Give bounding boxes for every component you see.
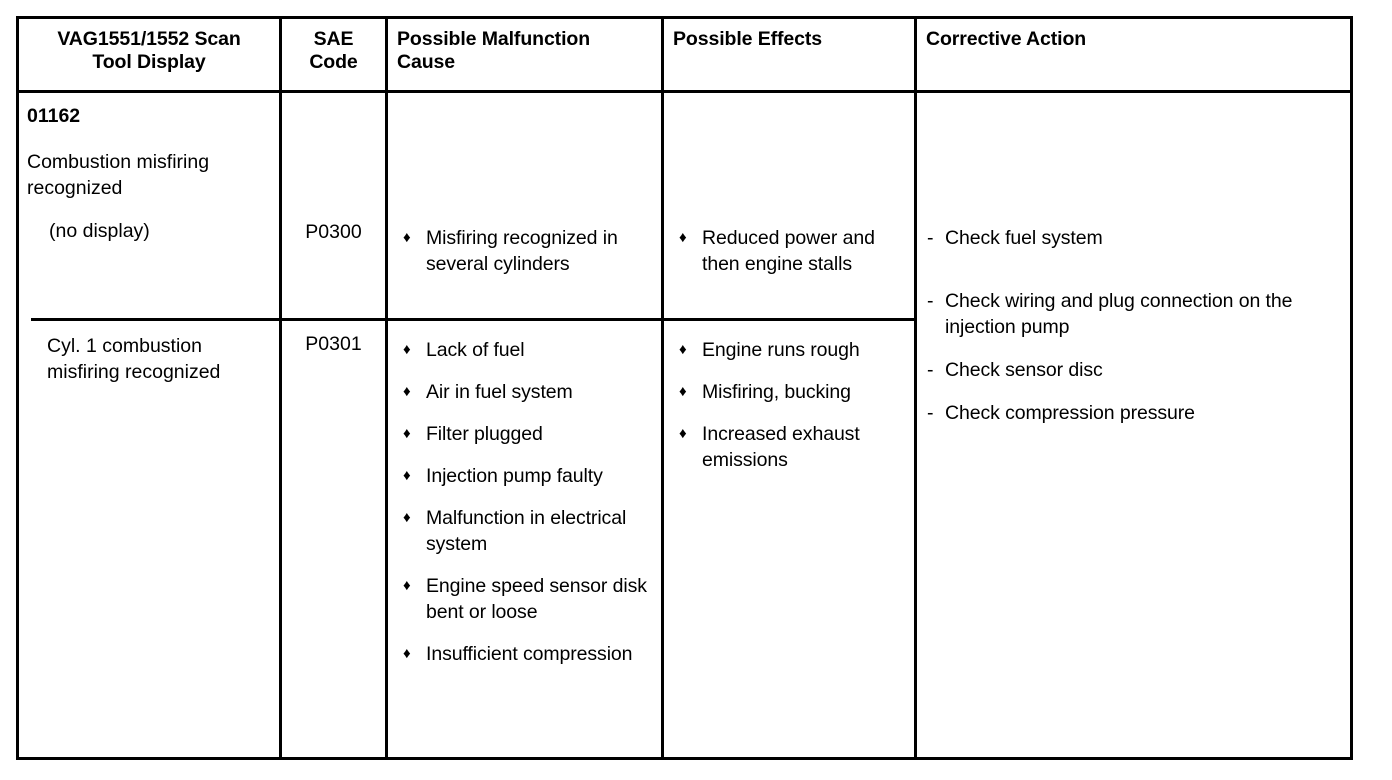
corrective-action-list-row1: - Check fuel system bbox=[927, 225, 1340, 251]
list-item: ♦ Engine speed sensor disk bent or loose bbox=[398, 573, 653, 625]
diamond-bullet-icon: ♦ bbox=[403, 224, 411, 251]
column-sae-code: P0300 P0301 bbox=[282, 93, 388, 757]
diamond-bullet-icon: ♦ bbox=[679, 336, 687, 363]
cause-list-wrapper: ♦ Lack of fuel ♦ Air in fuel system ♦ Fi… bbox=[388, 321, 661, 667]
list-item-label: Engine runs rough bbox=[702, 339, 860, 361]
column-header-line2: Tool Display bbox=[28, 51, 270, 74]
diamond-bullet-icon: ♦ bbox=[679, 420, 687, 447]
diamond-bullet-icon: ♦ bbox=[679, 378, 687, 405]
table-body: 01162 Combustion misfiring recognized (n… bbox=[19, 93, 1350, 757]
diamond-bullet-icon: ♦ bbox=[403, 378, 411, 405]
list-item-label: Reduced power and then engine stalls bbox=[702, 227, 875, 275]
column-header-possible-effects: Possible Effects bbox=[664, 19, 917, 90]
table-row-01162-display: 01162 Combustion misfiring recognized (n… bbox=[19, 93, 279, 321]
corrective-action-list-row2: - Check wiring and plug connection on th… bbox=[927, 288, 1340, 426]
list-item: ♦ Engine runs rough bbox=[674, 337, 906, 363]
list-item: ♦ Injection pump faulty bbox=[398, 463, 653, 489]
list-item-label: Check compression pressure bbox=[945, 402, 1195, 424]
list-item-label: Air in fuel system bbox=[426, 381, 573, 403]
diamond-bullet-icon: ♦ bbox=[403, 420, 411, 447]
column-header-line1: VAG1551/1552 Scan bbox=[28, 28, 270, 51]
dash-bullet-icon: - bbox=[927, 357, 933, 383]
table-row-01162-sae: P0300 bbox=[282, 93, 385, 321]
sae-code-value: P0300 bbox=[282, 93, 385, 244]
list-item-label: Injection pump faulty bbox=[426, 465, 603, 487]
table-row-p0301-effects: ♦ Engine runs rough ♦ Misfiring, bucking… bbox=[664, 321, 914, 757]
column-header-possible-malfunction-cause: Possible Malfunction Cause bbox=[388, 19, 664, 90]
corrective-action-list-row1-wrapper: - Check fuel system bbox=[917, 93, 1350, 268]
column-possible-effects: ♦ Reduced power and then engine stalls ♦… bbox=[664, 93, 917, 757]
list-item: ♦ Increased exhaust emissions bbox=[674, 421, 906, 473]
list-item: ♦ Air in fuel system bbox=[398, 379, 653, 405]
list-item-label: Malfunction in electrical system bbox=[426, 507, 626, 555]
fault-code-table: VAG1551/1552 Scan Tool Display SAE Code … bbox=[16, 16, 1353, 760]
list-item-label: Insufficient compression bbox=[426, 643, 632, 665]
corrective-action-list-row2-wrapper: - Check wiring and plug connection on th… bbox=[917, 268, 1350, 443]
table-row-p0301-sae: P0301 bbox=[282, 321, 385, 757]
sae-code-value: P0301 bbox=[282, 321, 385, 356]
column-header-line2: Cause bbox=[397, 51, 652, 74]
list-item-label: Filter plugged bbox=[426, 423, 543, 445]
list-item-label: Engine speed sensor disk bent or loose bbox=[426, 575, 647, 623]
list-item: - Check fuel system bbox=[927, 225, 1340, 251]
effect-list: ♦ Reduced power and then engine stalls bbox=[674, 225, 906, 277]
diamond-bullet-icon: ♦ bbox=[403, 640, 411, 667]
fault-description: Combustion misfiring recognized bbox=[19, 128, 279, 201]
table-row-p0301-causes: ♦ Lack of fuel ♦ Air in fuel system ♦ Fi… bbox=[388, 321, 661, 757]
column-header-line1: Possible Effects bbox=[673, 28, 905, 51]
column-header-line2: Code bbox=[291, 51, 376, 74]
list-item-label: Check sensor disc bbox=[945, 359, 1103, 381]
dash-bullet-icon: - bbox=[927, 400, 933, 426]
column-header-scan-tool-display: VAG1551/1552 Scan Tool Display bbox=[19, 19, 282, 90]
column-header-sae-code: SAE Code bbox=[282, 19, 388, 90]
cause-list-wrapper: ♦ Misfiring recognized in several cylind… bbox=[388, 93, 661, 277]
column-header-corrective-action: Corrective Action bbox=[917, 19, 1350, 90]
table-row-p0301-display: Cyl. 1 combustion misfiring recognized bbox=[19, 321, 279, 757]
effect-list-wrapper: ♦ Engine runs rough ♦ Misfiring, bucking… bbox=[664, 321, 914, 473]
table-row-01162-effects: ♦ Reduced power and then engine stalls bbox=[664, 93, 914, 321]
list-item: - Check sensor disc bbox=[927, 357, 1340, 383]
diamond-bullet-icon: ♦ bbox=[403, 462, 411, 489]
list-item-label: Check fuel system bbox=[945, 227, 1103, 249]
dash-bullet-icon: - bbox=[927, 225, 933, 251]
diamond-bullet-icon: ♦ bbox=[679, 224, 687, 251]
table-row-01162-causes: ♦ Misfiring recognized in several cylind… bbox=[388, 93, 661, 321]
table-header-row: VAG1551/1552 Scan Tool Display SAE Code … bbox=[19, 19, 1350, 93]
column-scan-tool-display: 01162 Combustion misfiring recognized (n… bbox=[19, 93, 282, 757]
effect-list-wrapper: ♦ Reduced power and then engine stalls bbox=[664, 93, 914, 277]
diamond-bullet-icon: ♦ bbox=[403, 572, 411, 599]
cause-list: ♦ Misfiring recognized in several cylind… bbox=[398, 225, 653, 277]
column-header-line1: Corrective Action bbox=[926, 28, 1341, 51]
list-item-label: Misfiring, bucking bbox=[702, 381, 851, 403]
column-header-line1: Possible Malfunction bbox=[397, 28, 652, 51]
fault-display-note: (no display) bbox=[19, 201, 279, 244]
list-item-label: Misfiring recognized in several cylinder… bbox=[426, 227, 618, 275]
list-item-label: Lack of fuel bbox=[426, 339, 525, 361]
column-header-line1: SAE bbox=[291, 28, 376, 51]
list-item: - Check compression pressure bbox=[927, 400, 1340, 426]
column-corrective-action: - Check fuel system - Check wiring and p… bbox=[917, 93, 1350, 757]
fault-code-number: 01162 bbox=[19, 93, 279, 128]
list-item: ♦ Malfunction in electrical system bbox=[398, 505, 653, 557]
list-item: ♦ Misfiring, bucking bbox=[674, 379, 906, 405]
list-item: ♦ Misfiring recognized in several cylind… bbox=[398, 225, 653, 277]
effect-list: ♦ Engine runs rough ♦ Misfiring, bucking… bbox=[674, 337, 906, 473]
list-item: - Check wiring and plug connection on th… bbox=[927, 288, 1340, 340]
diamond-bullet-icon: ♦ bbox=[403, 504, 411, 531]
list-item: ♦ Reduced power and then engine stalls bbox=[674, 225, 906, 277]
fault-description: Cyl. 1 combustion misfiring recognized bbox=[19, 321, 279, 385]
document-page: VAG1551/1552 Scan Tool Display SAE Code … bbox=[0, 0, 1392, 780]
column-possible-malfunction-cause: ♦ Misfiring recognized in several cylind… bbox=[388, 93, 664, 757]
list-item-label: Check wiring and plug connection on the … bbox=[945, 290, 1292, 338]
diamond-bullet-icon: ♦ bbox=[403, 336, 411, 363]
list-item: ♦ Filter plugged bbox=[398, 421, 653, 447]
cause-list: ♦ Lack of fuel ♦ Air in fuel system ♦ Fi… bbox=[398, 337, 653, 667]
dash-bullet-icon: - bbox=[927, 288, 933, 314]
list-item: ♦ Insufficient compression bbox=[398, 641, 653, 667]
list-item-label: Increased exhaust emissions bbox=[702, 423, 860, 471]
list-item: ♦ Lack of fuel bbox=[398, 337, 653, 363]
